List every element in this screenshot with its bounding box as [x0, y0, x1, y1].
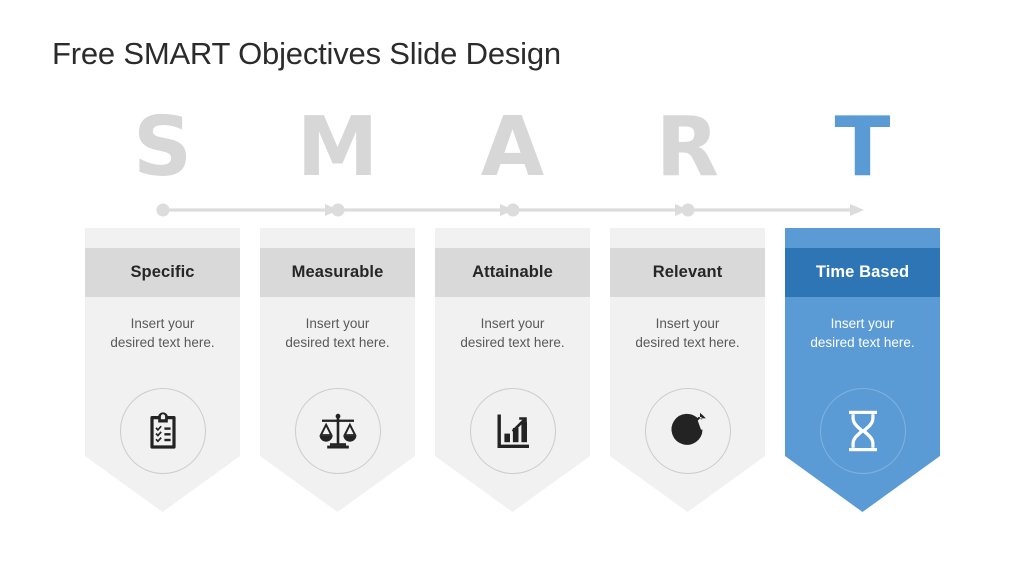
smart-letter-s: S — [85, 104, 240, 192]
card-header-time-based: Time Based — [785, 248, 940, 297]
connector-line — [694, 208, 850, 211]
connector-dot — [332, 204, 345, 217]
smart-cards-row: Specific Insert your desired text here. — [85, 228, 955, 518]
card-body-line-2: desired text here. — [85, 333, 240, 352]
card-body-measurable: Insert your desired text here. — [260, 314, 415, 352]
smart-letter-t: T — [785, 104, 940, 192]
card-icon-circle — [470, 388, 556, 474]
smart-card-attainable[interactable]: Attainable Insert your desired text here… — [435, 228, 590, 512]
card-header-attainable: Attainable — [435, 248, 590, 297]
card-body-time-based: Insert your desired text here. — [785, 314, 940, 352]
card-body-line-1: Insert your — [785, 314, 940, 333]
smart-card-relevant[interactable]: Relevant Insert your desired text here. — [610, 228, 765, 512]
card-title: Time Based — [816, 263, 909, 282]
card-title: Relevant — [653, 263, 723, 282]
card-body-line-2: desired text here. — [610, 333, 765, 352]
card-body-line-1: Insert your — [260, 314, 415, 333]
target-dart-icon — [667, 410, 709, 452]
connector-line — [169, 208, 325, 211]
card-title: Attainable — [472, 263, 553, 282]
card-body-line-2: desired text here. — [260, 333, 415, 352]
card-icon-circle — [120, 388, 206, 474]
card-header-specific: Specific — [85, 248, 240, 297]
page-title: Free SMART Objectives Slide Design — [52, 36, 561, 72]
card-icon-circle — [820, 388, 906, 474]
smart-letter-a: A — [435, 104, 590, 192]
smart-card-specific[interactable]: Specific Insert your desired text here. — [85, 228, 240, 512]
card-body-relevant: Insert your desired text here. — [610, 314, 765, 352]
connector-arrows-graphic — [85, 198, 945, 222]
balance-scale-icon — [317, 411, 359, 451]
card-body-line-1: Insert your — [610, 314, 765, 333]
process-connector — [85, 198, 945, 222]
card-body-line-2: desired text here. — [435, 333, 590, 352]
card-body-attainable: Insert your desired text here. — [435, 314, 590, 352]
smart-card-measurable[interactable]: Measurable Insert your desired text here… — [260, 228, 415, 512]
bar-chart-growth-icon — [493, 411, 533, 451]
connector-dot — [507, 204, 520, 217]
smart-card-time-based[interactable]: Time Based Insert your desired text here… — [785, 228, 940, 512]
card-header-measurable: Measurable — [260, 248, 415, 297]
card-icon-circle — [645, 388, 731, 474]
card-body-specific: Insert your desired text here. — [85, 314, 240, 352]
card-title: Measurable — [292, 263, 384, 282]
connector-dot — [157, 204, 170, 217]
card-body-line-1: Insert your — [435, 314, 590, 333]
card-title: Specific — [130, 263, 194, 282]
clipboard-checklist-icon — [143, 411, 183, 451]
card-body-line-2: desired text here. — [785, 333, 940, 352]
connector-dot — [682, 204, 695, 217]
card-header-relevant: Relevant — [610, 248, 765, 297]
smart-letter-r: R — [610, 104, 765, 192]
smart-letters-row: S M A R T — [85, 104, 940, 192]
connector-line — [519, 208, 675, 211]
connector-line — [344, 208, 500, 211]
card-body-line-1: Insert your — [85, 314, 240, 333]
smart-letter-m: M — [260, 104, 415, 192]
card-icon-circle — [295, 388, 381, 474]
smart-objectives-slide: Free SMART Objectives Slide Design S M A… — [0, 0, 1024, 576]
connector-arrowhead — [850, 204, 864, 216]
hourglass-icon — [846, 410, 880, 452]
